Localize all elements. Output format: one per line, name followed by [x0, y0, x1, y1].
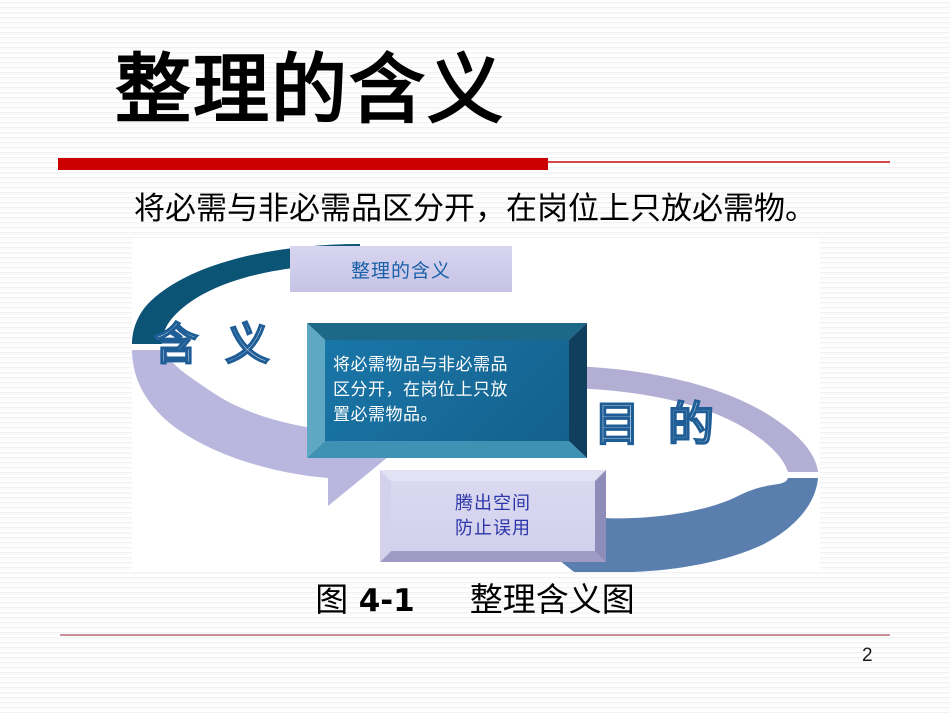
caption-prefix: 图 [315, 580, 348, 619]
caption-text: 整理含义图 [470, 580, 635, 619]
center-box-bevel-left [307, 323, 325, 458]
figure-caption: 图 4-1 整理含义图 [0, 578, 950, 623]
center-box-line-1: 将必需物品与非必需品 [333, 353, 508, 378]
center-box-bevel-bottom [307, 441, 587, 458]
center-box-text: 将必需物品与非必需品 区分开，在岗位上只放 置必需物品。 [333, 353, 508, 428]
diagram-center-box: 将必需物品与非必需品 区分开，在岗位上只放 置必需物品。 [307, 323, 587, 458]
bottom-box-bevel-left [380, 470, 391, 562]
title-rule-thick [58, 158, 548, 170]
bottom-box-face: 腾出空间 防止误用 [391, 481, 595, 551]
center-box-line-2: 区分开，在岗位上只放 [333, 378, 508, 403]
diagram-top-box-label: 整理的含义 [351, 256, 451, 283]
caption-figure-number: 4-1 [359, 583, 415, 619]
bottom-box-bevel-top [380, 470, 606, 481]
page-title: 整理的含义 [0, 46, 620, 134]
subtitle-text: 将必需与非必需品区分开，在岗位上只放必需物。 [0, 189, 950, 229]
center-box-line-3: 置必需物品。 [333, 403, 508, 428]
footer-rule [60, 634, 890, 636]
bottom-box-line-2: 防止误用 [455, 516, 531, 541]
bottom-box-line-1: 腾出空间 [455, 491, 531, 516]
center-box-face: 将必需物品与非必需品 区分开，在岗位上只放 置必需物品。 [325, 340, 569, 441]
diagram-bottom-box: 腾出空间 防止误用 [380, 470, 606, 562]
bottom-box-bevel-bottom [380, 551, 606, 562]
diagram-panel: 整理的含义 将必需物品与非必需品 区分开，在岗位上只放 置必需物品。 [132, 238, 820, 572]
diagram-top-box: 整理的含义 [290, 246, 512, 292]
title-rule-thin [548, 161, 890, 163]
center-box-bevel-top [307, 323, 587, 340]
center-box-bevel-right [569, 323, 587, 458]
slide-canvas: 整理的含义 将必需与非必需品区分开，在岗位上只放必需物。 [0, 0, 950, 713]
bottom-box-bevel-right [595, 470, 606, 562]
page-number: 2 [862, 645, 892, 667]
